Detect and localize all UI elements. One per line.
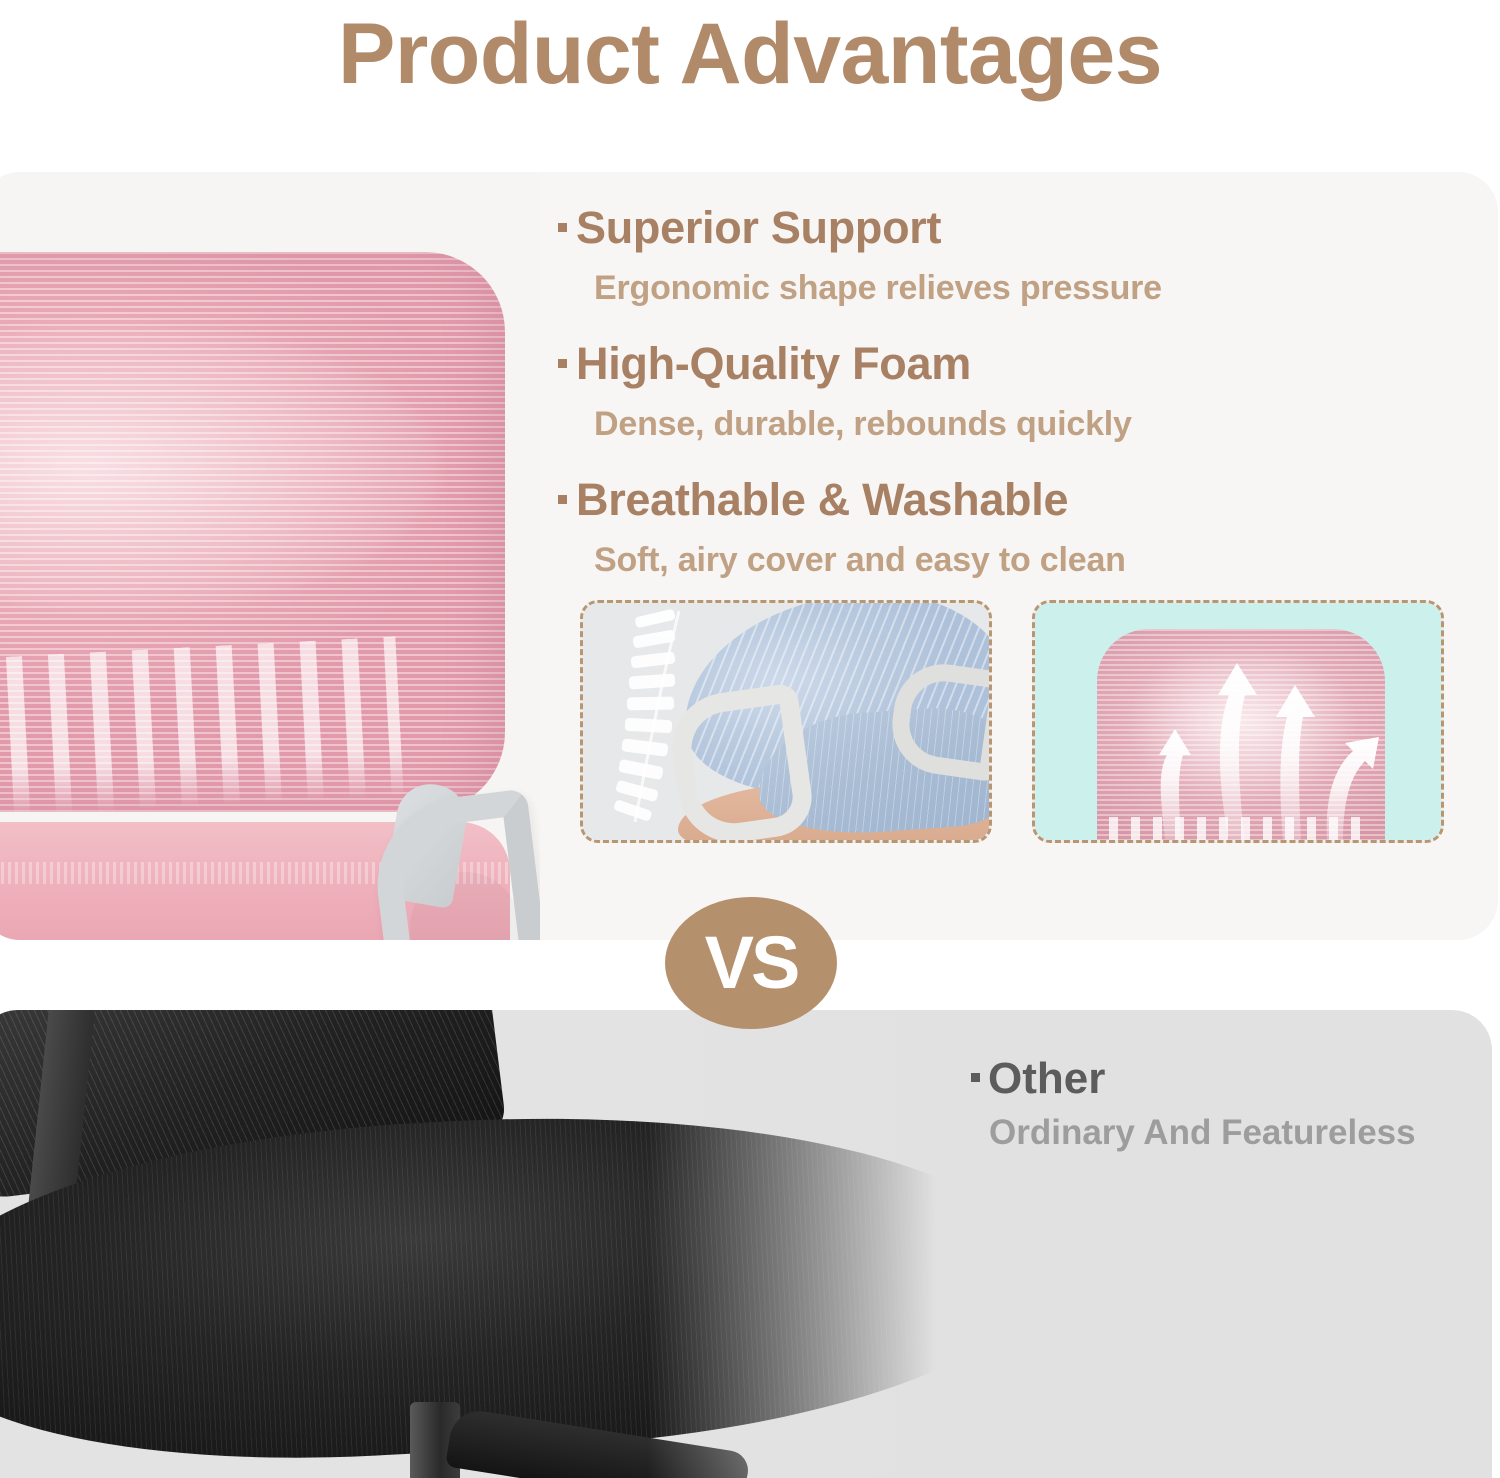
- page-title: Product Advantages: [0, 2, 1500, 106]
- inset-image-row: [580, 600, 1444, 843]
- bullet-square-icon: [558, 359, 567, 368]
- feature-heading: Breathable & Washable: [576, 472, 1068, 528]
- feature-item: Superior Support Ergonomic shape relieve…: [558, 200, 1458, 310]
- feature-heading: Superior Support: [576, 200, 941, 256]
- chair-mesh-perforations: [0, 636, 404, 827]
- other-heading-row: Other: [971, 1052, 1471, 1106]
- other-heading: Other: [988, 1052, 1105, 1106]
- feature-subtext: Soft, airy cover and easy to clean: [594, 538, 1458, 582]
- other-subtext: Ordinary And Featureless: [989, 1110, 1471, 1156]
- feature-heading-row: High-Quality Foam: [558, 336, 1458, 392]
- feature-heading-row: Superior Support: [558, 200, 1458, 256]
- feature-item: High-Quality Foam Dense, durable, reboun…: [558, 336, 1458, 446]
- airflow-arrows-icon: [1087, 651, 1397, 843]
- ergonomic-seating-photo: [580, 600, 992, 843]
- feature-subtext: Ergonomic shape relieves pressure: [594, 266, 1458, 310]
- vs-badge: VS: [665, 897, 837, 1029]
- breathability-diagram: [1032, 600, 1444, 843]
- bullet-square-icon: [558, 223, 567, 232]
- feature-list: Superior Support Ergonomic shape relieve…: [558, 200, 1458, 588]
- feature-heading-row: Breathable & Washable: [558, 472, 1458, 528]
- other-card: Other Ordinary And Featureless: [0, 1010, 1492, 1478]
- vs-label: VS: [705, 926, 798, 1000]
- bullet-square-icon: [971, 1073, 980, 1082]
- feature-heading: High-Quality Foam: [576, 336, 971, 392]
- pink-chair-image: [0, 172, 540, 940]
- feature-subtext: Dense, durable, rebounds quickly: [594, 402, 1458, 446]
- other-text-block: Other Ordinary And Featureless: [971, 1052, 1471, 1156]
- black-chair-image: [0, 1010, 1008, 1478]
- product-advantages-page: Product Advantages Superior Support Ergo…: [0, 0, 1500, 1478]
- bullet-square-icon: [558, 495, 567, 504]
- feature-item: Breathable & Washable Soft, airy cover a…: [558, 472, 1458, 582]
- advantage-card: Superior Support Ergonomic shape relieve…: [0, 172, 1498, 940]
